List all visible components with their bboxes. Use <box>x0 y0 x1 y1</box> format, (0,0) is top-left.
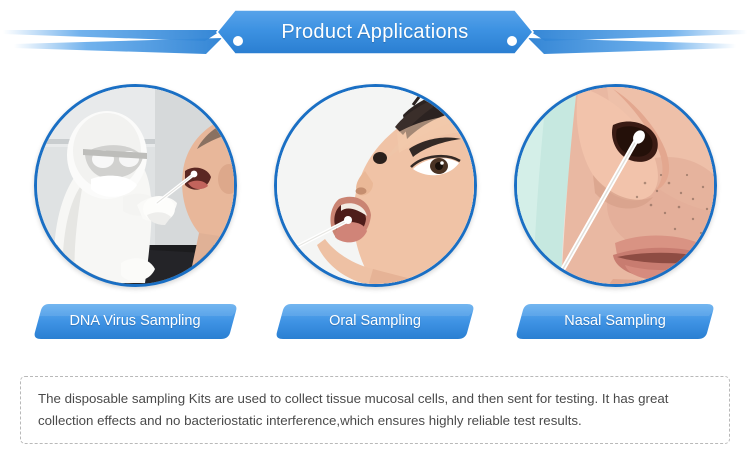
description-box: The disposable sampling Kits are used to… <box>20 376 730 444</box>
header-banner: Product Applications <box>0 8 750 64</box>
dna-virus-sampling-image <box>34 84 237 287</box>
oral-sampling-image <box>274 84 477 287</box>
application-card-dna-virus-sampling[interactable]: DNA Virus Sampling <box>30 84 240 346</box>
product-applications-page: Product Applications <box>0 0 750 457</box>
application-card-nasal-sampling[interactable]: Nasal Sampling <box>510 84 720 346</box>
nasal-sampling-label[interactable]: Nasal Sampling <box>515 302 715 342</box>
application-card-oral-sampling[interactable]: Oral Sampling <box>270 84 480 346</box>
banner-plaque <box>217 10 533 54</box>
right-wing-decoration <box>528 30 747 54</box>
label-plate-shape <box>515 302 715 342</box>
application-cards: DNA Virus Sampling <box>0 84 750 346</box>
dna-virus-sampling-illustration <box>37 87 234 284</box>
description-text: The disposable sampling Kits are used to… <box>38 388 712 432</box>
dna-virus-sampling-label[interactable]: DNA Virus Sampling <box>33 302 238 342</box>
dot-decoration-icon <box>507 36 517 46</box>
nasal-sampling-image <box>514 84 717 287</box>
dot-decoration-icon <box>233 36 243 46</box>
oral-sampling-illustration <box>277 87 474 284</box>
left-wing-decoration <box>3 30 222 54</box>
label-plate-shape <box>275 302 475 342</box>
nasal-sampling-illustration <box>517 87 714 284</box>
banner-shape <box>0 8 750 64</box>
oral-sampling-label[interactable]: Oral Sampling <box>275 302 475 342</box>
label-plate-shape <box>33 302 238 342</box>
